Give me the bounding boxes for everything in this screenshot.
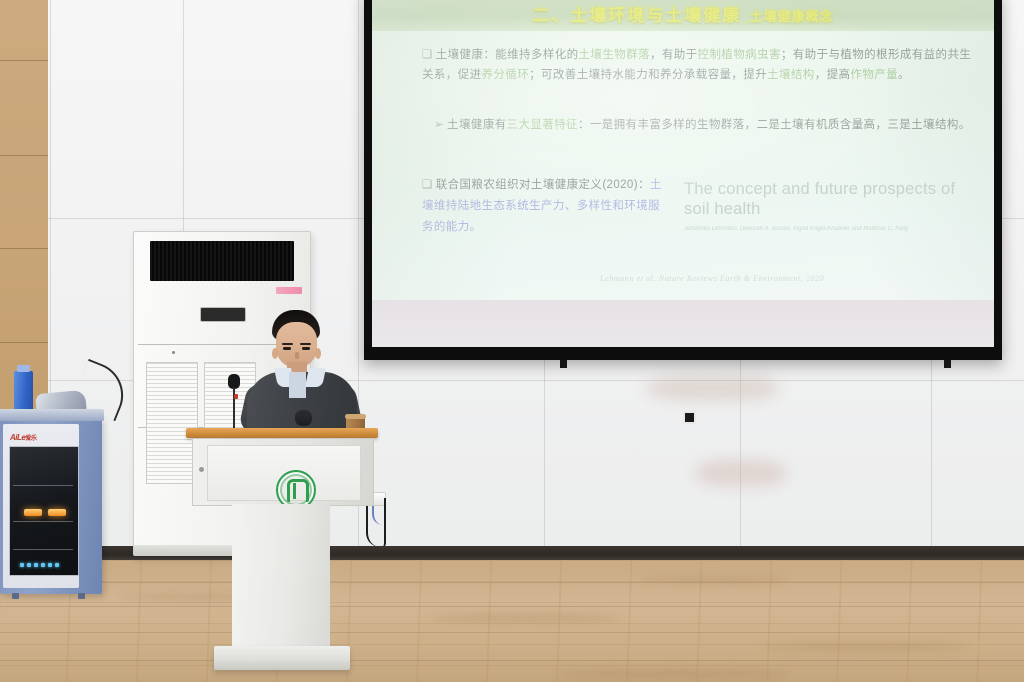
bullet-text-segment: ：一是拥有丰富多样的生物群落，二是土壤有机质含量高，三是土壤结构。 (578, 119, 971, 131)
slide-bullet-1: ❑土壤健康：能维持多样化的土壤生物群落，有助于控制植物病虫害；有助于与植物的根形… (422, 45, 974, 85)
bullet-text-segment: 。 (898, 69, 910, 81)
bullet-text-segment: 三大显著特征 (507, 119, 578, 131)
bullet-text-segment: 控制植物病虫害 (698, 49, 781, 61)
projection-screen: 二、土壤环境与土壤健康_土壤健康概念 ❑土壤健康：能维持多样化的土壤生物群落，有… (364, 0, 1002, 360)
cabinet-brand-label: AiLe爱乐 (10, 433, 36, 442)
bullet-text-segment: 土壤生物群落 (579, 49, 650, 61)
bullet-text-segment: 联合国粮农组织对土壤健康定义(2020)： (436, 179, 650, 191)
lectern-body (192, 438, 374, 506)
paper-reference: Lehmann et al. Nature Reviews Earth & En… (600, 274, 980, 283)
lecture-hall-scene: 二、土壤环境与土壤健康_土壤健康概念 ❑土壤健康：能维持多样化的土壤生物群落，有… (0, 0, 1024, 682)
ac-indicator-icon (172, 351, 175, 354)
ac-display-panel (200, 307, 246, 322)
power-cable-2 (381, 498, 386, 548)
cabinet-control-panel[interactable] (20, 563, 59, 567)
uv-lamp-left (24, 509, 42, 516)
bullet-text-segment: 土壤结构 (767, 69, 815, 81)
bottle-cap (17, 365, 30, 372)
presenter (243, 310, 361, 438)
cup-lid (345, 414, 366, 419)
ac-top-vent (150, 241, 294, 281)
slide-title: 二、土壤环境与土壤健康_土壤健康概念 (372, 1, 994, 26)
bullet-marker-icon: ❑ (422, 179, 433, 191)
bullet-text-segment: ，提高 (815, 69, 851, 81)
lectern-column (232, 504, 330, 650)
cabinet-glass-door[interactable] (9, 446, 79, 576)
lectern-knob-icon (199, 467, 204, 472)
bullet-text-segment: 作物产量 (850, 69, 898, 81)
slide-bullet-3: ❑联合国粮农组织对土壤健康定义(2020)：土壤维持陆地生态系统生产力、多样性和… (422, 175, 670, 238)
slide-title-sub: _土壤健康概念 (741, 9, 833, 24)
slide: 二、土壤环境与土壤健康_土壤健康概念 ❑土壤健康：能维持多样化的土壤生物群落，有… (372, 0, 994, 300)
lectern-desktop (186, 428, 378, 438)
screen-bracket-left (560, 360, 567, 368)
cabinet-top (0, 409, 104, 421)
bullet-marker-icon: ➢ (434, 119, 444, 131)
paper-authors: Johannes Lehmann, Deborah A. Bossio, Ing… (684, 225, 984, 234)
paper-english-title: The concept and future prospects of soil… (684, 179, 974, 219)
disinfection-cabinet: AiLe爱乐 (0, 418, 102, 594)
microphone-clip-icon (234, 394, 238, 399)
lectern (186, 428, 378, 682)
cabinet-front: AiLe爱乐 (3, 424, 79, 588)
bullet-text-segment: ，有助于 (650, 49, 698, 61)
cabinet-foot-right (78, 593, 85, 599)
slide-title-main: 二、土壤环境与土壤健康 (532, 6, 741, 25)
screen-surface: 二、土壤环境与土壤健康_土壤健康概念 ❑土壤健康：能维持多样化的土壤生物群落，有… (372, 0, 994, 347)
slide-bullet-2: ➢土壤健康有三大显著特征：一是拥有丰富多样的生物群落，二是土壤有机质含量高，三是… (434, 115, 974, 135)
cabinet-foot-left (12, 593, 19, 599)
screen-bracket-right (944, 360, 951, 368)
ac-brand-label (276, 287, 302, 294)
bullet-marker-icon: ❑ (422, 49, 433, 61)
presenter-shirt (289, 372, 306, 398)
microphone (228, 374, 240, 436)
bullet-text-segment: 土壤健康有 (447, 119, 507, 131)
bullet-text-segment: 养分循环 (482, 69, 530, 81)
lectern-front-panel (207, 445, 361, 501)
lectern-base (214, 646, 350, 670)
floor (0, 560, 1024, 682)
bullet-text-segment: ；可改善土壤持水能力和养分承载容量，提升 (529, 69, 767, 81)
bullet-text-segment: 土壤健康：能维持多样化的 (436, 49, 579, 61)
screen-blank-area (372, 300, 994, 342)
slide-body: ❑土壤健康：能维持多样化的土壤生物群落，有助于控制植物病虫害；有助于与植物的根形… (372, 31, 994, 300)
presenter-hand-with-clicker (295, 410, 312, 426)
uv-lamp-right (48, 509, 66, 516)
wall-sensor-icon (683, 411, 696, 424)
